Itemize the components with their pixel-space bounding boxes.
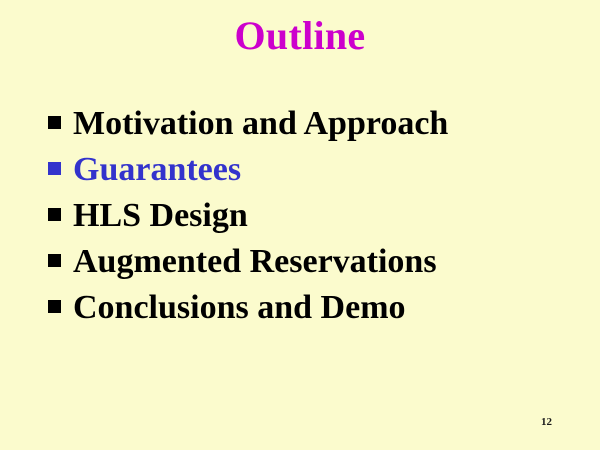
list-item: Guarantees bbox=[48, 150, 588, 190]
square-bullet-icon bbox=[48, 300, 61, 313]
square-bullet-icon bbox=[48, 116, 61, 129]
list-item: HLS Design bbox=[48, 196, 588, 236]
square-bullet-icon bbox=[48, 162, 61, 175]
list-item-label: Guarantees bbox=[73, 150, 588, 190]
list-item-label: Augmented Reservations bbox=[73, 242, 588, 282]
list-item-label: Motivation and Approach bbox=[73, 104, 588, 144]
list-item-label: Conclusions and Demo bbox=[73, 288, 588, 328]
page-title: Outline bbox=[0, 14, 600, 58]
square-bullet-icon bbox=[48, 254, 61, 267]
slide-page-number: 12 bbox=[541, 416, 552, 428]
list-item: Conclusions and Demo bbox=[48, 288, 588, 328]
outline-bullet-list: Motivation and Approach Guarantees HLS D… bbox=[48, 104, 588, 335]
square-bullet-icon bbox=[48, 208, 61, 221]
list-item-label: HLS Design bbox=[73, 196, 588, 236]
presentation-slide: Outline Motivation and Approach Guarante… bbox=[0, 0, 600, 450]
list-item: Augmented Reservations bbox=[48, 242, 588, 282]
list-item: Motivation and Approach bbox=[48, 104, 588, 144]
